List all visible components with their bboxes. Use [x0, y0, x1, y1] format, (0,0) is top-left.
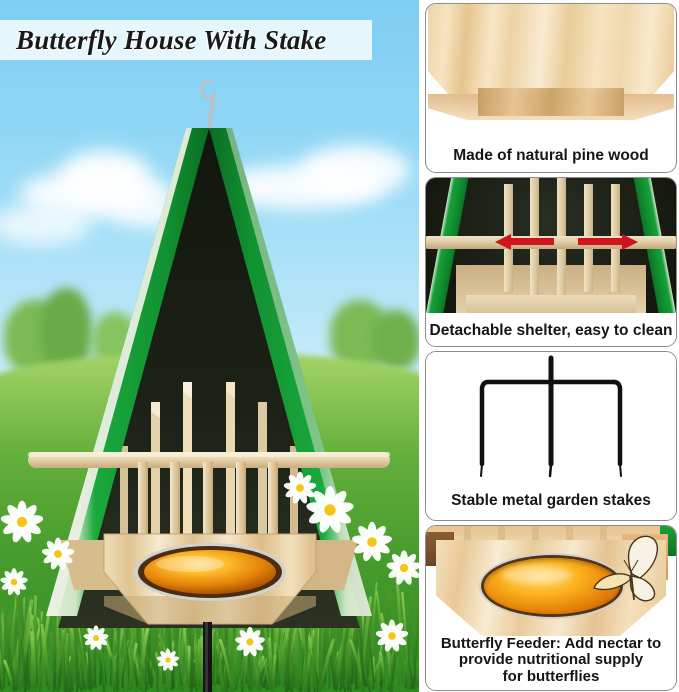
feature-panel-metal-stakes: Stable metal garden stakes	[425, 351, 677, 521]
hanging-hook	[202, 80, 214, 128]
feature-panel-detachable-shelter: Detachable shelter, easy to clean	[425, 177, 677, 347]
feature-panel-butterfly-feeder: Butterfly Feeder: Add nectar to provide …	[425, 525, 677, 691]
panel-image-stakes	[426, 352, 676, 484]
feature-panel-pine-wood: Made of natural pine wood	[425, 3, 677, 173]
panel-image-shelter	[426, 178, 676, 313]
foreground-daisies	[0, 392, 419, 692]
shelter-base	[466, 295, 636, 313]
garden-stake-illustration	[426, 352, 676, 484]
arrow-left-shaft	[510, 238, 554, 245]
daisy-flower	[351, 522, 392, 563]
feature-panel-column: Made of natural pine wood	[421, 0, 679, 692]
page-title: Butterfly House With Stake	[16, 25, 327, 56]
panel-caption-line: for butterflies	[426, 669, 676, 686]
panel-caption: Butterfly Feeder: Add nectar to provide …	[426, 636, 676, 686]
daisy-flower	[386, 550, 419, 586]
panel-caption-line: provide nutritional supply	[426, 652, 676, 669]
arrow-left-head	[495, 234, 511, 250]
main-product-photo: Butterfly House With Stake	[0, 0, 419, 692]
panel-image-feeder	[426, 526, 676, 636]
panel-caption-line: Butterfly Feeder: Add nectar to	[426, 636, 676, 653]
panel-caption: Made of natural pine wood	[426, 147, 676, 164]
daisy-flower	[41, 538, 75, 571]
butterfly-icon	[586, 530, 672, 608]
product-image-root: Butterfly House With Stake Made of natur…	[0, 0, 679, 692]
arrow-right-head	[622, 234, 638, 250]
daisy-flower	[156, 649, 179, 672]
daisy-flower	[0, 501, 44, 544]
daisy-flower	[0, 568, 28, 596]
daisy-flower	[235, 627, 266, 657]
panel-image-pine-wood	[426, 4, 676, 136]
daisy-flower	[83, 625, 109, 650]
daisy-flower	[283, 472, 317, 505]
pine-board-grain	[478, 88, 624, 116]
nectar-highlight	[502, 566, 572, 584]
panel-caption: Stable metal garden stakes	[426, 492, 676, 509]
daisy-flower	[375, 620, 409, 653]
title-banner: Butterfly House With Stake	[0, 20, 372, 60]
arrow-right-shaft	[578, 238, 622, 245]
panel-caption: Detachable shelter, easy to clean	[426, 322, 676, 339]
